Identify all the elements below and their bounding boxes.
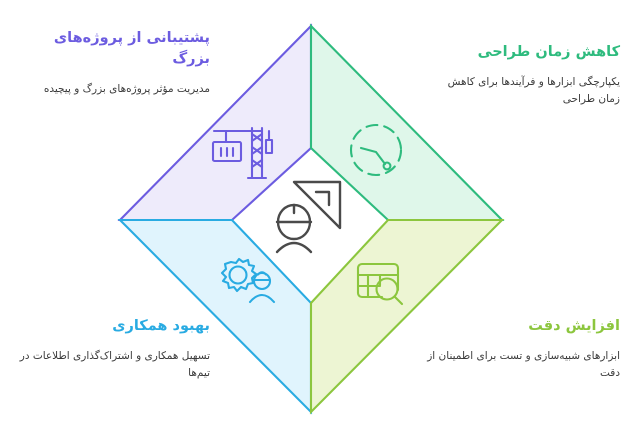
- quadrant-text-bottom-right: افزایش دقت ابزارهای شبیه‌سازی و تست برای…: [424, 316, 620, 382]
- quadrant-description-top-right: یکپارچگی ابزارها و فرآیندها برای کاهش زم…: [424, 74, 620, 108]
- infographic-canvas: پشتیبانی از پروژه‌های بزرگ مدیریت مؤثر پ…: [0, 0, 622, 441]
- quadrant-text-top-right: کاهش زمان طراحی یکپارچگی ابزارها و فرآین…: [424, 42, 620, 108]
- quadrant-title-bottom-right: افزایش دقت: [424, 316, 620, 337]
- quadrant-text-top-left: پشتیبانی از پروژه‌های بزرگ مدیریت مؤثر پ…: [14, 28, 210, 98]
- designer-set-square-icon: [277, 182, 340, 252]
- quadrant-title-top-left: پشتیبانی از پروژه‌های بزرگ: [14, 28, 210, 70]
- quadrant-title-top-right: کاهش زمان طراحی: [424, 42, 620, 63]
- quadrant-description-bottom-left: تسهیل همکاری و اشتراک‌گذاری اطلاعات در ت…: [14, 348, 210, 382]
- quadrant-text-bottom-left: بهبود همکاری تسهیل همکاری و اشتراک‌گذاری…: [14, 316, 210, 382]
- quadrant-title-bottom-left: بهبود همکاری: [14, 316, 210, 337]
- quadrant-description-top-left: مدیریت مؤثر پروژه‌های بزرگ و پیچیده: [14, 81, 210, 98]
- quadrant-description-bottom-right: ابزارهای شبیه‌سازی و تست برای اطمینان از…: [424, 348, 620, 382]
